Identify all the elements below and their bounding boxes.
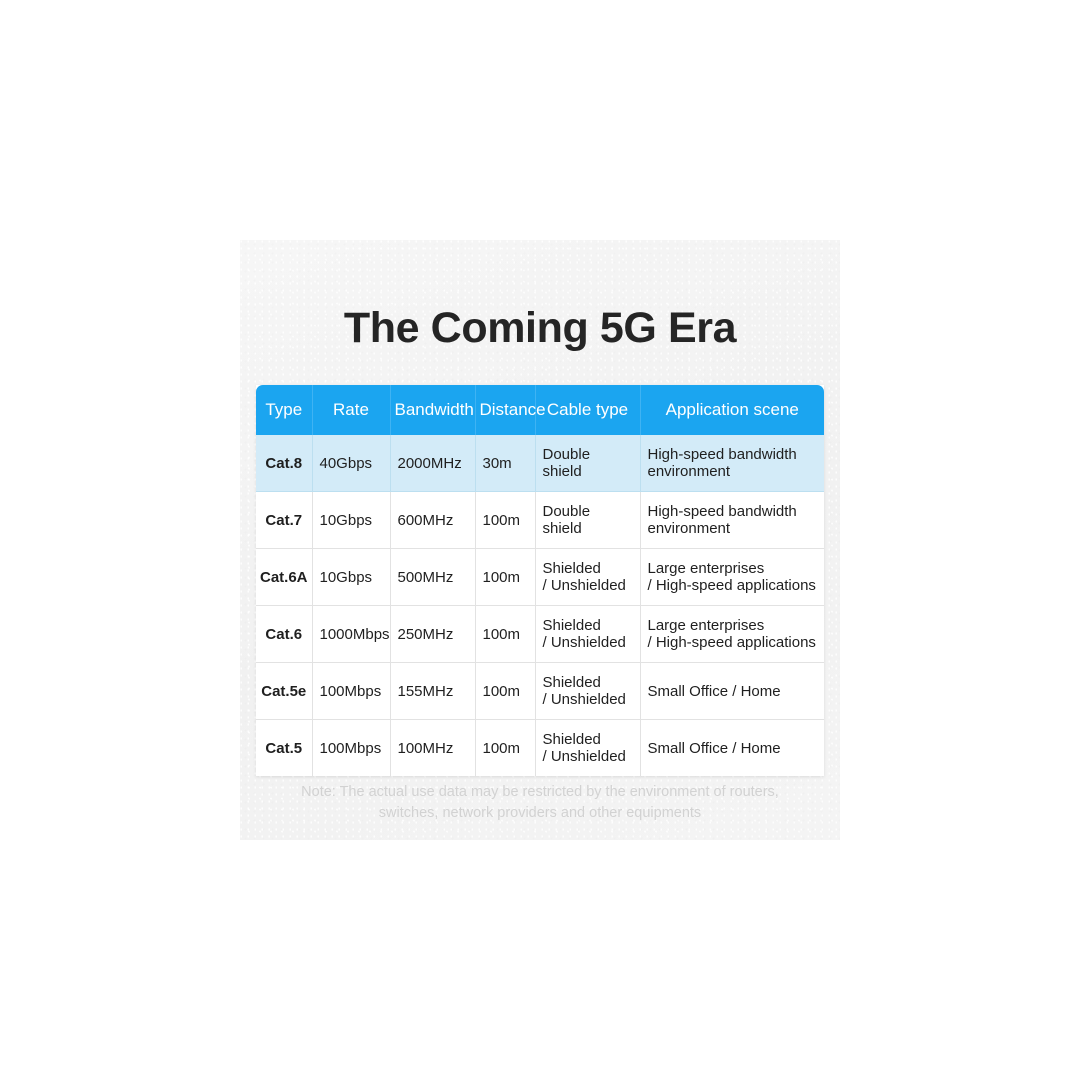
cell-scene-line1: Large enterprises — [648, 560, 818, 577]
cell-scene-line1: Large enterprises — [648, 617, 818, 634]
cell-bandwidth: 155MHz — [390, 663, 475, 720]
table-header: Type Rate Bandwidth Distance Cable type … — [256, 385, 824, 435]
cell-cable-type: Shielded / Unshielded — [535, 720, 640, 777]
cell-scene-line1: Small Office / Home — [648, 683, 818, 700]
cell-application-scene: High-speed bandwidth environment — [640, 435, 824, 492]
cell-cable-type-line2: / Unshielded — [543, 577, 633, 594]
cell-type: Cat.6 — [256, 606, 312, 663]
cell-scene-line1: High-speed bandwidth — [648, 446, 818, 463]
cell-application-scene: Small Office / Home — [640, 720, 824, 777]
column-header-cable-type: Cable type — [535, 385, 640, 435]
footnote-line2: switches, network providers and other eq… — [280, 803, 800, 824]
page-title: The Coming 5G Era — [240, 302, 840, 354]
cell-cable-type-line1: Shielded — [543, 674, 633, 691]
cell-scene-line2: environment — [648, 463, 818, 480]
cell-distance: 100m — [475, 549, 535, 606]
cell-bandwidth: 500MHz — [390, 549, 475, 606]
table-row: Cat.5 100Mbps 100MHz 100m Shielded / Uns… — [256, 720, 824, 777]
table-header-row: Type Rate Bandwidth Distance Cable type … — [256, 385, 824, 435]
cell-bandwidth: 600MHz — [390, 492, 475, 549]
cell-bandwidth: 250MHz — [390, 606, 475, 663]
cell-cable-type-line1: Shielded — [543, 731, 633, 748]
cell-type: Cat.8 — [256, 435, 312, 492]
cell-cable-type-line1: Shielded — [543, 617, 633, 634]
cell-type: Cat.6A — [256, 549, 312, 606]
cell-bandwidth: 100MHz — [390, 720, 475, 777]
cell-scene-line2: / High-speed applications — [648, 634, 818, 651]
cell-type: Cat.5 — [256, 720, 312, 777]
cell-application-scene: Large enterprises / High-speed applicati… — [640, 606, 824, 663]
cell-scene-line1: High-speed bandwidth — [648, 503, 818, 520]
ethernet-cable-spec-table: Type Rate Bandwidth Distance Cable type … — [256, 385, 824, 776]
cell-distance: 30m — [475, 435, 535, 492]
cell-rate: 100Mbps — [312, 720, 390, 777]
cell-scene-line2: environment — [648, 520, 818, 537]
cell-application-scene: Small Office / Home — [640, 663, 824, 720]
cell-distance: 100m — [475, 492, 535, 549]
cell-bandwidth: 2000MHz — [390, 435, 475, 492]
cell-rate: 10Gbps — [312, 549, 390, 606]
cell-scene-line1: Small Office / Home — [648, 740, 818, 757]
cell-cable-type: Shielded / Unshielded — [535, 549, 640, 606]
spec-table-container: Type Rate Bandwidth Distance Cable type … — [256, 385, 824, 776]
cell-rate: 40Gbps — [312, 435, 390, 492]
cell-application-scene: Large enterprises / High-speed applicati… — [640, 549, 824, 606]
column-header-type: Type — [256, 385, 312, 435]
cell-distance: 100m — [475, 663, 535, 720]
cell-cable-type-line2: / Unshielded — [543, 748, 633, 765]
cell-distance: 100m — [475, 720, 535, 777]
page-canvas: The Coming 5G Era Type Rate Bandwidth — [0, 0, 1080, 1080]
column-header-bandwidth: Bandwidth — [390, 385, 475, 435]
table-row: Cat.6A 10Gbps 500MHz 100m Shielded / Uns… — [256, 549, 824, 606]
table-body: Cat.8 40Gbps 2000MHz 30m Double shield H… — [256, 435, 824, 776]
cell-cable-type-line1: Shielded — [543, 560, 633, 577]
table-row: Cat.7 10Gbps 600MHz 100m Double shield H… — [256, 492, 824, 549]
cell-type: Cat.5e — [256, 663, 312, 720]
cell-application-scene: High-speed bandwidth environment — [640, 492, 824, 549]
column-header-distance: Distance — [475, 385, 535, 435]
spec-card: The Coming 5G Era Type Rate Bandwidth — [240, 240, 840, 840]
cell-rate: 100Mbps — [312, 663, 390, 720]
cell-rate: 10Gbps — [312, 492, 390, 549]
cell-cable-type-line2: / Unshielded — [543, 691, 633, 708]
cell-cable-type-line1: Double shield — [543, 503, 633, 537]
cell-cable-type: Shielded / Unshielded — [535, 606, 640, 663]
column-header-application-scene: Application scene — [640, 385, 824, 435]
cell-distance: 100m — [475, 606, 535, 663]
cell-cable-type: Double shield — [535, 492, 640, 549]
footnote-line1: Note: The actual use data may be restric… — [280, 782, 800, 803]
cell-cable-type: Shielded / Unshielded — [535, 663, 640, 720]
cell-rate: 1000Mbps — [312, 606, 390, 663]
table-row: Cat.5e 100Mbps 155MHz 100m Shielded / Un… — [256, 663, 824, 720]
cell-cable-type-line1: Double shield — [543, 446, 633, 480]
cell-cable-type-line2: / Unshielded — [543, 634, 633, 651]
cell-scene-line2: / High-speed applications — [648, 577, 818, 594]
footnote: Note: The actual use data may be restric… — [280, 782, 800, 824]
table-row: Cat.6 1000Mbps 250MHz 100m Shielded / Un… — [256, 606, 824, 663]
cell-cable-type: Double shield — [535, 435, 640, 492]
cell-type: Cat.7 — [256, 492, 312, 549]
column-header-rate: Rate — [312, 385, 390, 435]
table-row: Cat.8 40Gbps 2000MHz 30m Double shield H… — [256, 435, 824, 492]
